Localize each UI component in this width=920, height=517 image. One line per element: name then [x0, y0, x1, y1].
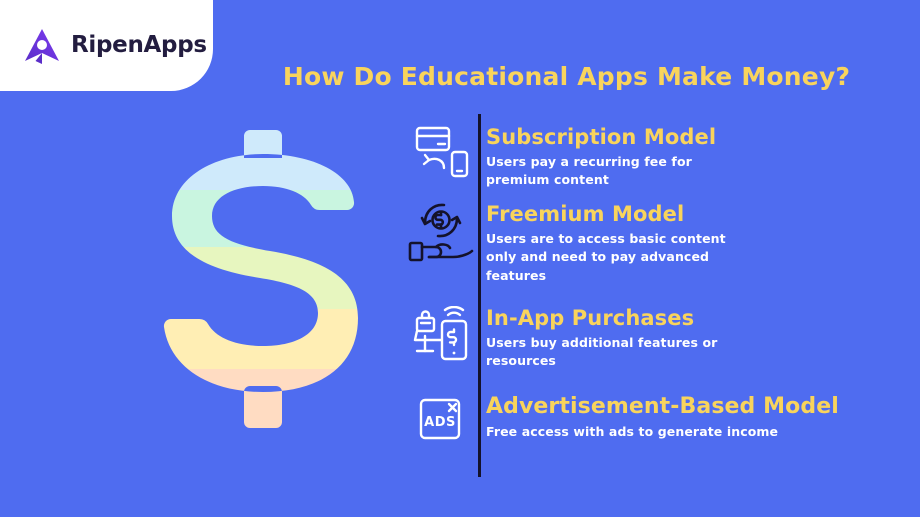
list-item-title: Subscription Model [486, 126, 906, 150]
dollar-sign-graphic [158, 128, 368, 428]
list-item-body: Freemium Model Users are to access basic… [486, 203, 906, 286]
svg-text:ADS: ADS [424, 415, 456, 430]
monetization-model-list: Subscription Model Users pay a recurring… [406, 114, 906, 479]
list-item-title: Advertisement-Based Model [486, 395, 906, 420]
brand-logo-panel: RipenApps [0, 0, 213, 91]
credit-card-phone-recurring-icon [414, 124, 470, 178]
list-item-description: Users buy additional features or resourc… [486, 334, 731, 372]
list-item-title: In-App Purchases [486, 307, 906, 331]
list-item-description: Users are to access basic content only a… [486, 230, 731, 286]
ripenapps-arrow-logo-icon [22, 26, 62, 66]
ads-box-close-icon: ADS [416, 394, 468, 444]
list-item-description: Free access with ads to generate income [486, 423, 906, 442]
page-title: How Do Educational Apps Make Money? [213, 62, 920, 91]
list-item-body: Advertisement-Based Model Free access wi… [486, 395, 906, 441]
pos-terminal-phone-payment-icon [412, 306, 472, 364]
brand-wordmark: RipenApps [71, 34, 207, 57]
list-item-description: Users pay a recurring fee for premium co… [486, 153, 731, 191]
list-item-body: Subscription Model Users pay a recurring… [486, 126, 906, 190]
list-item-body: In-App Purchases Users buy additional fe… [486, 307, 906, 371]
infographic-canvas: RipenApps How Do Educational Apps Make M… [0, 0, 920, 517]
list-item-title: Freemium Model [486, 203, 906, 227]
hand-holding-dollar-refresh-icon [408, 203, 474, 265]
